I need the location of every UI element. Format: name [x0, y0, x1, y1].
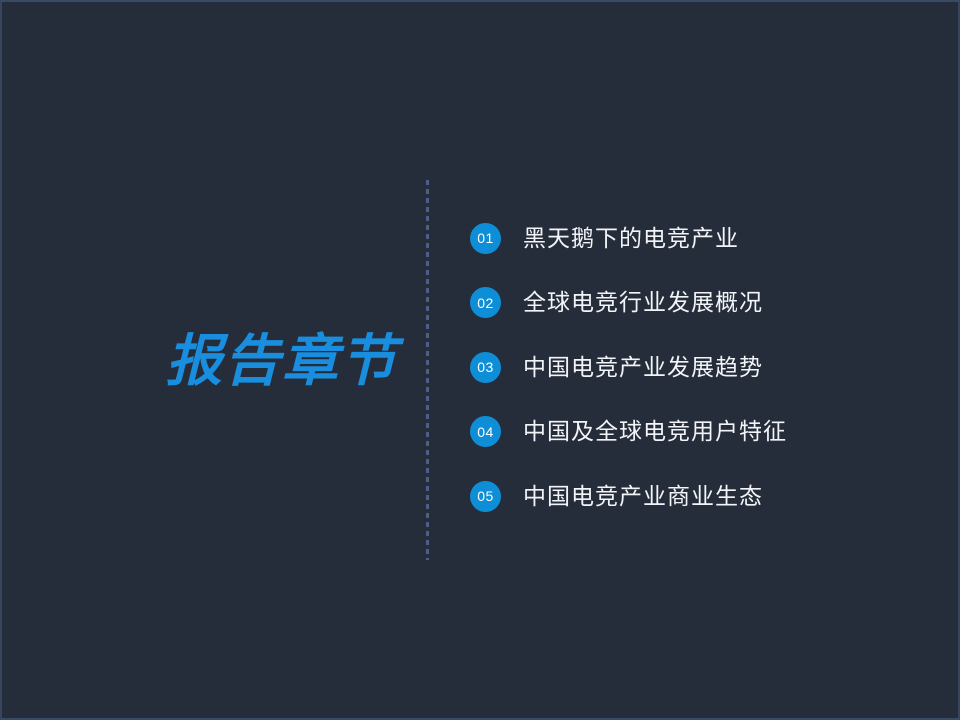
- agenda-item-label: 中国及全球电竞用户特征: [523, 420, 787, 443]
- dashed-divider: [426, 180, 429, 560]
- list-item[interactable]: 02 全球电竞行业发展概况: [470, 280, 910, 326]
- agenda-item-label: 中国电竞产业发展趋势: [523, 356, 763, 379]
- page-title: 报告章节: [162, 332, 402, 391]
- list-item[interactable]: 04 中国及全球电竞用户特征: [470, 409, 910, 455]
- agenda-item-label: 全球电竞行业发展概况: [523, 291, 763, 314]
- list-item[interactable]: 01 黑天鹅下的电竞产业: [470, 215, 910, 261]
- agenda-item-label: 黑天鹅下的电竞产业: [523, 227, 739, 250]
- list-item[interactable]: 05 中国电竞产业商业生态: [470, 473, 910, 519]
- presentation-slide: 报告章节 01 黑天鹅下的电竞产业 02 全球电竞行业发展概况 03 中国电竞产…: [0, 0, 960, 720]
- agenda-number-badge: 02: [470, 287, 501, 318]
- agenda-number-badge: 03: [470, 352, 501, 383]
- agenda-number-badge: 01: [470, 223, 501, 254]
- agenda-number-badge: 04: [470, 416, 501, 447]
- agenda-item-label: 中国电竞产业商业生态: [523, 485, 763, 508]
- agenda-list: 01 黑天鹅下的电竞产业 02 全球电竞行业发展概况 03 中国电竞产业发展趋势…: [470, 215, 910, 519]
- list-item[interactable]: 03 中国电竞产业发展趋势: [470, 344, 910, 390]
- agenda-number-badge: 05: [470, 481, 501, 512]
